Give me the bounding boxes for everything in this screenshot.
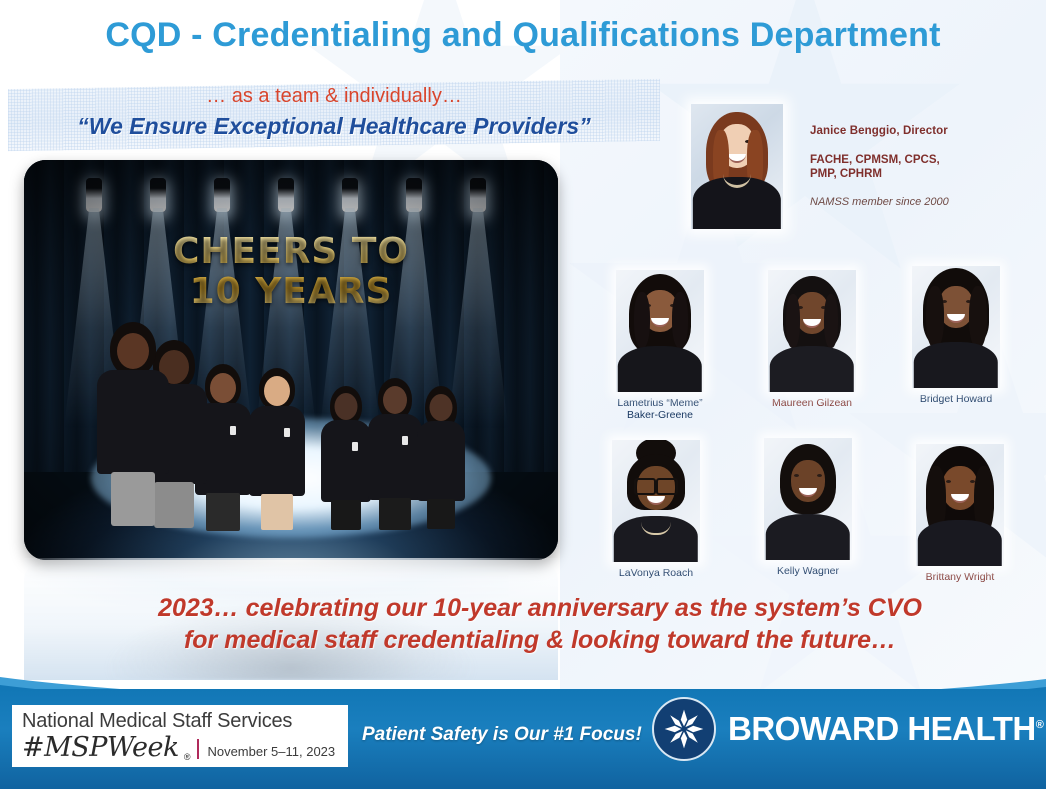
mspweek-divider (197, 739, 199, 759)
anniversary-line-2: for medical staff credentialing & lookin… (184, 626, 896, 654)
team-member-name-line-2: Baker-Greene (627, 409, 693, 421)
team-member-headshot (612, 440, 700, 562)
mspweek-registered-mark: ® (184, 752, 191, 762)
mspweek-dates: November 5–11, 2023 (207, 744, 335, 762)
mspweek-hashtag: #MSPWeek (22, 734, 179, 762)
director-credentials: FACHE, CPMSM, CPCS, PMP, CPHRM (810, 153, 1040, 181)
anniversary-line-1: 2023… celebrating our 10-year anniversar… (158, 594, 922, 622)
team-members-group (96, 306, 486, 536)
director-headshot (691, 104, 783, 229)
bottom-banner: National Medical Staff Services #MSPWeek… (0, 677, 1046, 789)
tagline-block: … as a team & individually… “We Ensure E… (8, 82, 660, 148)
team-member-card: Lametrius “Meme” Baker-Greene (612, 270, 708, 421)
team-member-headshot (916, 444, 1004, 566)
director-membership: NAMSS member since 2000 (810, 196, 1040, 208)
team-member-card: Maureen Gilzean (764, 270, 860, 409)
safety-slogan: Patient Safety is Our #1 Focus! (362, 724, 642, 746)
director-info: Janice Benggio, Director FACHE, CPMSM, C… (810, 125, 1040, 208)
team-member-name: LaVonya Roach (608, 567, 704, 579)
team-member-card: LaVonya Roach (608, 440, 704, 579)
tagline-line-1: … as a team & individually… (8, 85, 660, 108)
page-title: CQD - Credentialing and Qualifications D… (0, 16, 1046, 55)
director-credentials-line-1: FACHE, CPMSM, CPCS, (810, 154, 940, 166)
broward-health-logo: BROWARD HEALTH® (652, 697, 1043, 761)
stage-person (94, 322, 172, 536)
stage-person (246, 368, 308, 536)
team-member-headshot (616, 270, 704, 392)
team-member-headshot (768, 270, 856, 392)
broward-health-star-icon (652, 697, 716, 761)
team-member-name: Kelly Wagner (760, 565, 856, 577)
director-credentials-line-2: PMP, CPHRM (810, 168, 882, 180)
mspweek-logo: National Medical Staff Services #MSPWeek… (12, 705, 348, 767)
slide-canvas: CQD - Credentialing and Qualifications D… (0, 0, 1046, 789)
mspweek-title: National Medical Staff Services (22, 710, 340, 733)
cheers-headline: CHEERS TO 10 YEARS (24, 232, 558, 312)
team-member-name: Lametrius “Meme” Baker-Greene (612, 397, 708, 421)
broward-health-wordmark: BROWARD HEALTH® (728, 710, 1043, 748)
cheers-headline-line-1: CHEERS TO (173, 231, 409, 272)
team-member-card: Bridget Howard (908, 266, 1004, 405)
director-name: Janice Benggio, Director (810, 125, 1040, 137)
team-member-headshot (764, 438, 852, 560)
team-member-name-line-1: Lametrius “Meme” (617, 397, 702, 409)
team-member-card: Brittany Wright (912, 444, 1008, 583)
team-member-name: Bridget Howard (908, 393, 1004, 405)
team-member-headshot (912, 266, 1000, 388)
broward-health-name: BROWARD HEALTH (728, 710, 1036, 747)
stage-person (414, 386, 468, 536)
anniversary-message: 2023… celebrating our 10-year anniversar… (60, 592, 1020, 656)
tagline-line-2: “We Ensure Exceptional Healthcare Provid… (8, 113, 660, 140)
team-member-name: Brittany Wright (912, 571, 1008, 583)
team-member-name: Maureen Gilzean (764, 397, 860, 409)
team-stage-photo: CHEERS TO 10 YEARS (24, 160, 558, 560)
team-member-card: Kelly Wagner (760, 438, 856, 577)
broward-health-registered-mark: ® (1036, 719, 1044, 731)
